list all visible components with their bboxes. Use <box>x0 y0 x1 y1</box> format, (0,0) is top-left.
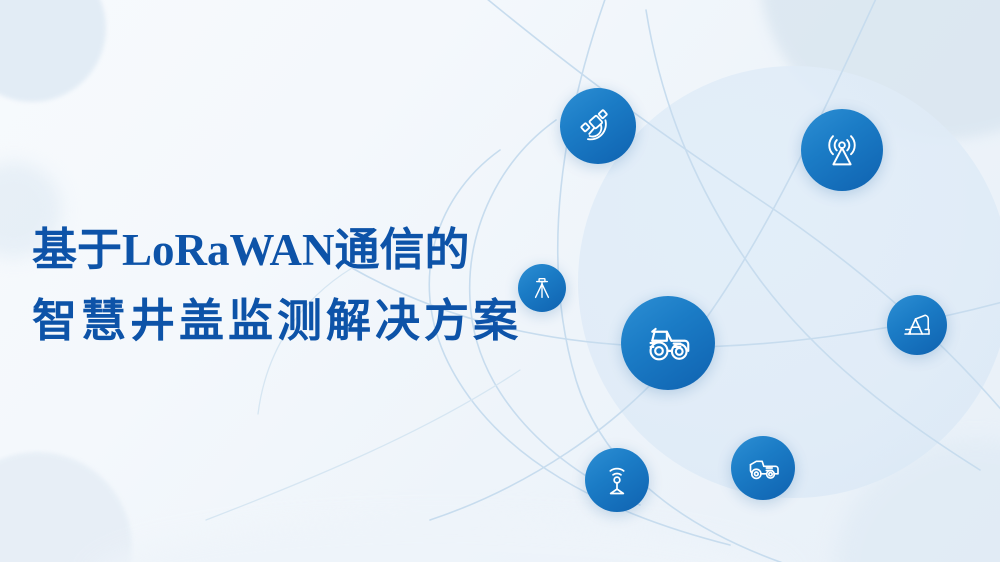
large-translucent-sphere <box>578 66 1000 498</box>
bottom-left-blob <box>0 452 132 562</box>
node-tractor[interactable] <box>621 296 715 390</box>
satellite-signal-icon <box>577 105 619 147</box>
node-radio-tower[interactable] <box>801 109 883 191</box>
title-block: 基于LoRaWAN通信的 智慧井盖监测解决方案 <box>32 228 572 344</box>
top-left-blob <box>0 0 106 102</box>
top-right-wedge <box>760 0 1000 140</box>
slide-title-line-2: 智慧井盖监测解决方案 <box>32 299 572 344</box>
node-oil-pumpjack[interactable] <box>887 295 947 355</box>
presentation-slide: 基于LoRaWAN通信的 智慧井盖监测解决方案 <box>0 0 1000 562</box>
tractor-icon <box>641 316 695 370</box>
node-beacon-antenna[interactable] <box>585 448 649 512</box>
node-satellite-signal[interactable] <box>560 88 636 164</box>
beacon-antenna-icon <box>598 461 636 499</box>
bottom-band-blob <box>90 520 790 562</box>
harvester-vehicle-icon <box>743 448 783 488</box>
oil-pumpjack-icon <box>899 307 935 343</box>
radio-tower-icon <box>819 127 865 173</box>
slide-title-line-1: 基于LoRaWAN通信的 <box>32 228 572 273</box>
node-harvester-vehicle[interactable] <box>731 436 795 500</box>
bottom-right-blob <box>836 440 1000 562</box>
